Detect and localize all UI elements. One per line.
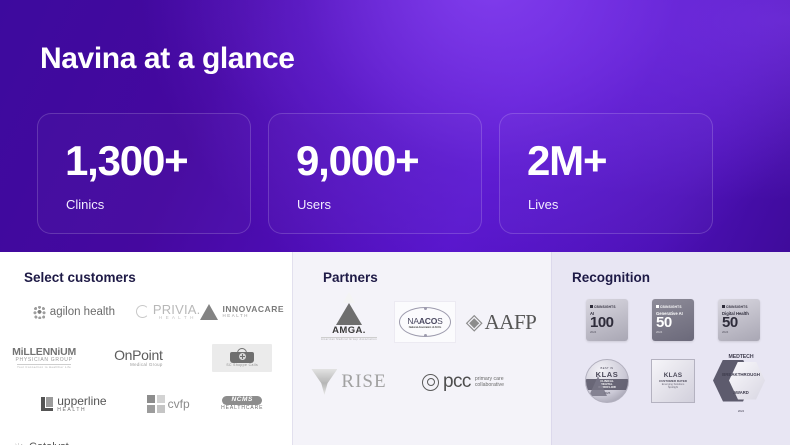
medical-bag-icon: SC Shoppe Calls <box>212 344 272 372</box>
badge-line-1: MEDTECH <box>729 354 754 360</box>
badge-cbinsights-digital-health-50: CBINSIGHTS Digital Health 50 2024 <box>718 299 760 341</box>
logo-millennium-physician-group: MiLLENNiUM PHYSICIAN GROUP Your Connecti… <box>12 347 76 369</box>
logo-agilon-health: agilon health <box>33 306 115 319</box>
caduceus-icon: ◈ <box>466 313 483 331</box>
logo-sublabel: HEALTH <box>57 408 106 413</box>
logo-tagline: Your Connection to Healthier Life <box>17 364 71 369</box>
panel-title-customers: Select customers <box>24 270 136 285</box>
logo-rise: RISE <box>311 369 386 395</box>
cbinsights-logo-icon: CBINSIGHTS <box>722 305 756 309</box>
logo-sublabel: HEALTH <box>222 314 284 319</box>
logo-sublabel: H E A L T H <box>153 316 201 321</box>
naacos-dot-bottom-icon <box>424 334 427 337</box>
panel-title-recognition: Recognition <box>572 270 650 285</box>
badge-line-3: AWARD <box>733 390 749 395</box>
naacos-dot-top-icon <box>424 307 427 310</box>
hero-section: Navina at a glance 1,300+ Clinics 9,000+… <box>0 0 790 252</box>
logo-label: OnPoint <box>114 348 163 363</box>
cbinsights-logo-icon: CBINSIGHTS <box>656 305 690 309</box>
badge-cbinsights-generative-ai-50: CBINSIGHTS Generative AI 50 2024 <box>652 299 694 341</box>
stat-value-lives: 2M+ <box>527 140 606 182</box>
logo-sublabel: PHYSICIAN GROUP <box>15 358 72 363</box>
logo-label: AMGA. <box>332 326 366 336</box>
logo-ncms-healthcare: NCMS HEALTHCARE <box>221 396 263 411</box>
upperline-blocks-icon <box>41 397 53 411</box>
logo-sc-shoppe-calls: SC Shoppe Calls <box>212 344 272 372</box>
logo-privia-health: PRIVIA. H E A L T H <box>136 303 201 321</box>
logo-sublabel: HEALTHCARE <box>221 406 263 411</box>
logo-aafp: ◈ AAFP <box>466 311 537 333</box>
stat-value-clinics: 1,300+ <box>65 140 187 182</box>
stat-card-clinics: 1,300+ Clinics <box>37 113 251 234</box>
logo-label: NCMS <box>222 396 262 405</box>
amga-triangle-icon <box>336 303 362 325</box>
partner-logo-grid: AMGA. American Medical Group Association… <box>311 296 539 408</box>
logo-label: upperline <box>57 395 106 408</box>
panel-select-customers: Select customers agilon health PRIVIA. H… <box>0 252 292 445</box>
badge-sublabel: Emerging SolutionsSpotlight <box>662 383 685 389</box>
logo-onpoint-medical-group: OnPoint Medical Group <box>114 348 163 367</box>
logo-sublabel: primary carecollaborative <box>475 376 504 389</box>
pcc-ring-icon <box>422 374 439 391</box>
badge-line-2: BREAKTHROUGH <box>722 372 760 377</box>
rise-fan-icon <box>311 369 337 395</box>
logo-tagline: National Association of ACOs <box>409 326 442 329</box>
klas-ribbon-icon <box>589 376 607 396</box>
agilon-flower-icon <box>33 306 46 319</box>
badge-year: 2024 <box>590 330 624 334</box>
badge-year: 2024 <box>722 330 756 334</box>
logo-label: PRIVIA. <box>153 303 201 317</box>
badge-best-in-klas: BEST IN KLAS CLINICALDIGITALWORKFLOW 202… <box>585 359 629 403</box>
panel-title-partners: Partners <box>323 270 378 285</box>
navina-at-a-glance-slide: Navina at a glance 1,300+ Clinics 9,000+… <box>0 0 790 445</box>
logo-label: pcc <box>443 372 471 392</box>
badge-medtech-breakthrough-award: MEDTECH BREAKTHROUGH AWARD 2024 <box>713 358 765 404</box>
innovacare-triangle-icon <box>200 304 218 320</box>
stat-card-lives: 2M+ Lives <box>499 113 713 234</box>
logo-label: agilon health <box>50 306 115 318</box>
cbinsights-logo-icon: CBINSIGHTS <box>590 305 624 309</box>
logo-pcc-primary-care-collaborative: pcc primary carecollaborative <box>422 372 504 392</box>
badge-text-block: MEDTECH BREAKTHROUGH AWARD 2024 <box>722 345 760 417</box>
badge-number: 50 <box>722 316 756 330</box>
cvfp-squares-icon <box>147 395 165 413</box>
logo-amga: AMGA. American Medical Group Association <box>321 303 377 342</box>
logo-label: RISE <box>341 372 386 392</box>
logo-upperline-health: upperline HEALTH <box>41 395 106 413</box>
logo-cvfp: cvfp <box>147 395 190 413</box>
panel-recognition: Recognition CBINSIGHTS AI 100 2024 CBINS… <box>551 252 790 445</box>
stat-card-users: 9,000+ Users <box>268 113 482 234</box>
logo-innovacare-health: INNOVACARE HEALTH <box>200 304 284 320</box>
logo-tagline: American Medical Group Association <box>321 337 377 342</box>
logo-label: AAFP <box>485 311 537 333</box>
stat-label-clinics: Clinics <box>66 197 104 212</box>
logo-naacos: NAACOS National Association of ACOs <box>394 301 456 343</box>
logo-label: SC Shoppe Calls <box>226 364 258 368</box>
logo-sublabel: Medical Group <box>130 363 162 368</box>
privia-circle-icon <box>136 305 149 318</box>
badge-klas-customer-rated: KLAS CUSTOMER RATED Emerging SolutionsSp… <box>651 359 695 403</box>
logo-label: cvfp <box>168 398 190 411</box>
badge-cbinsights-ai-100: CBINSIGHTS AI 100 2024 <box>586 299 628 341</box>
bag-shape <box>230 348 254 363</box>
stats-row: 1,300+ Clinics 9,000+ Users 2M+ Lives <box>37 113 713 234</box>
badge-number: 100 <box>590 316 624 330</box>
badge-year: 2024 <box>656 330 690 334</box>
panel-partners: Partners AMGA. American Medical Group As… <box>292 252 551 445</box>
logo-label: NAACOS <box>407 316 442 326</box>
logo-panels: Select customers agilon health PRIVIA. H… <box>0 252 790 445</box>
stat-label-lives: Lives <box>528 197 558 212</box>
page-title: Navina at a glance <box>40 42 295 76</box>
naacos-oval-frame: NAACOS National Association of ACOs <box>399 307 451 337</box>
customer-logo-grid: agilon health PRIVIA. H E A L T H INNOVA… <box>12 294 284 445</box>
badge-brand: KLAS <box>664 372 683 379</box>
stat-value-users: 9,000+ <box>296 140 418 182</box>
badge-year: 2024 <box>738 409 744 413</box>
stat-label-users: Users <box>297 197 331 212</box>
badge-number: 50 <box>656 316 690 330</box>
recognition-badge-grid: CBINSIGHTS AI 100 2024 CBINSIGHTS Genera… <box>574 292 772 408</box>
